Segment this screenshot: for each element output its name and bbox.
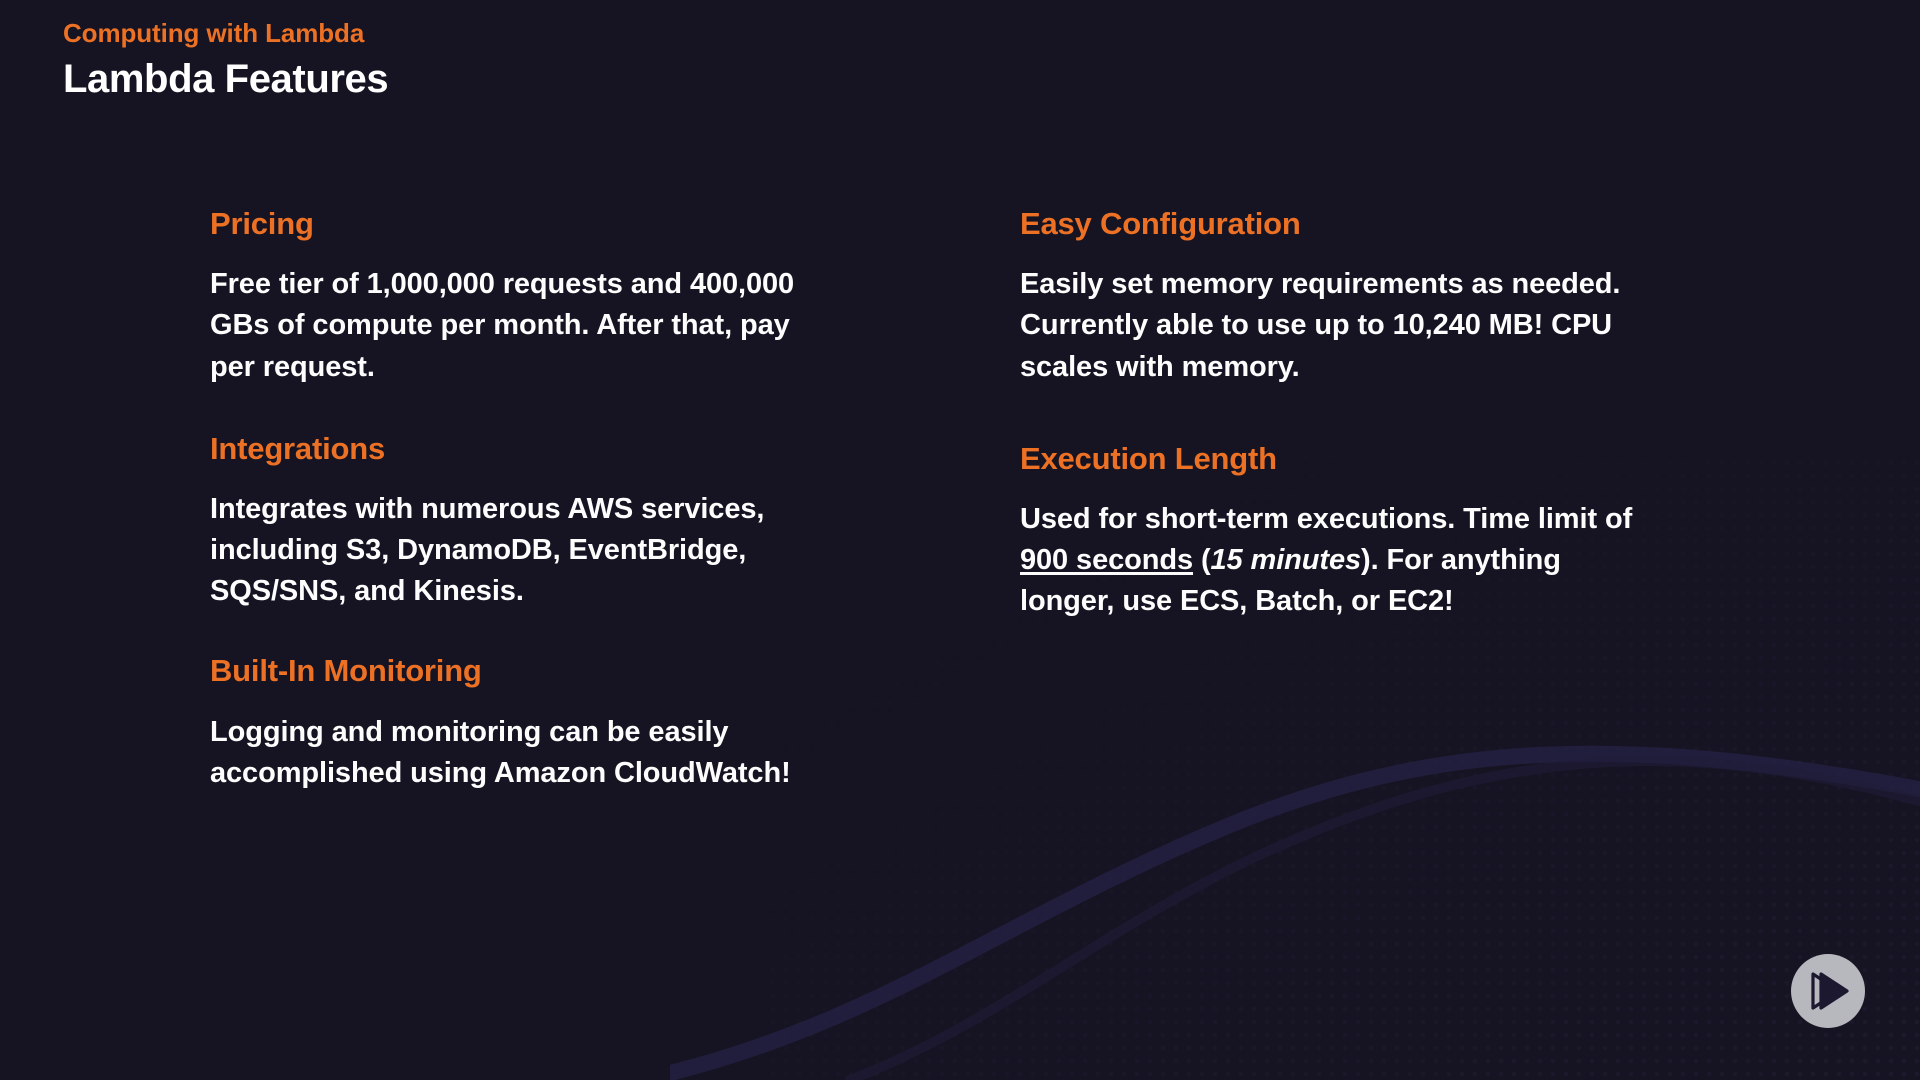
exec-text-before: Used for short-term executions. Time lim…	[1020, 503, 1632, 535]
right-column: Easy Configuration Easily set memory req…	[900, 205, 1920, 794]
feature-body-easy-configuration: Easily set memory requirements as needed…	[1020, 264, 1660, 388]
feature-block-integrations: Integrations Integrates with numerous AW…	[210, 430, 900, 613]
feature-body-pricing: Free tier of 1,000,000 requests and 400,…	[210, 264, 830, 388]
double-play-triangle-logo-icon	[1805, 970, 1851, 1012]
feature-heading-built-in-monitoring: Built-In Monitoring	[210, 652, 900, 689]
feature-block-built-in-monitoring: Built-In Monitoring Logging and monitori…	[210, 652, 900, 794]
feature-heading-execution-length: Execution Length	[1020, 440, 1920, 477]
brand-logo	[1791, 954, 1865, 1028]
feature-body-integrations: Integrates with numerous AWS services, i…	[210, 489, 830, 613]
exec-text-middle: (	[1193, 544, 1211, 576]
slide-header: Computing with Lambda Lambda Features	[63, 18, 388, 102]
left-column: Pricing Free tier of 1,000,000 requests …	[0, 205, 900, 794]
feature-block-easy-configuration: Easy Configuration Easily set memory req…	[1020, 205, 1920, 388]
feature-body-built-in-monitoring: Logging and monitoring can be easily acc…	[210, 712, 830, 794]
exec-text-italic-minutes: 15 minutes	[1211, 544, 1362, 576]
slide-eyebrow: Computing with Lambda	[63, 18, 388, 49]
feature-block-pricing: Pricing Free tier of 1,000,000 requests …	[210, 205, 900, 388]
feature-heading-easy-configuration: Easy Configuration	[1020, 205, 1920, 242]
page-title: Lambda Features	[63, 56, 388, 102]
slide: Computing with Lambda Lambda Features Pr…	[0, 0, 1920, 1080]
feature-block-execution-length: Execution Length Used for short-term exe…	[1020, 440, 1920, 623]
feature-heading-pricing: Pricing	[210, 205, 900, 242]
feature-heading-integrations: Integrations	[210, 430, 900, 467]
exec-text-underlined-duration: 900 seconds	[1020, 544, 1193, 576]
content-columns: Pricing Free tier of 1,000,000 requests …	[0, 205, 1920, 794]
feature-body-execution-length: Used for short-term executions. Time lim…	[1020, 499, 1660, 623]
